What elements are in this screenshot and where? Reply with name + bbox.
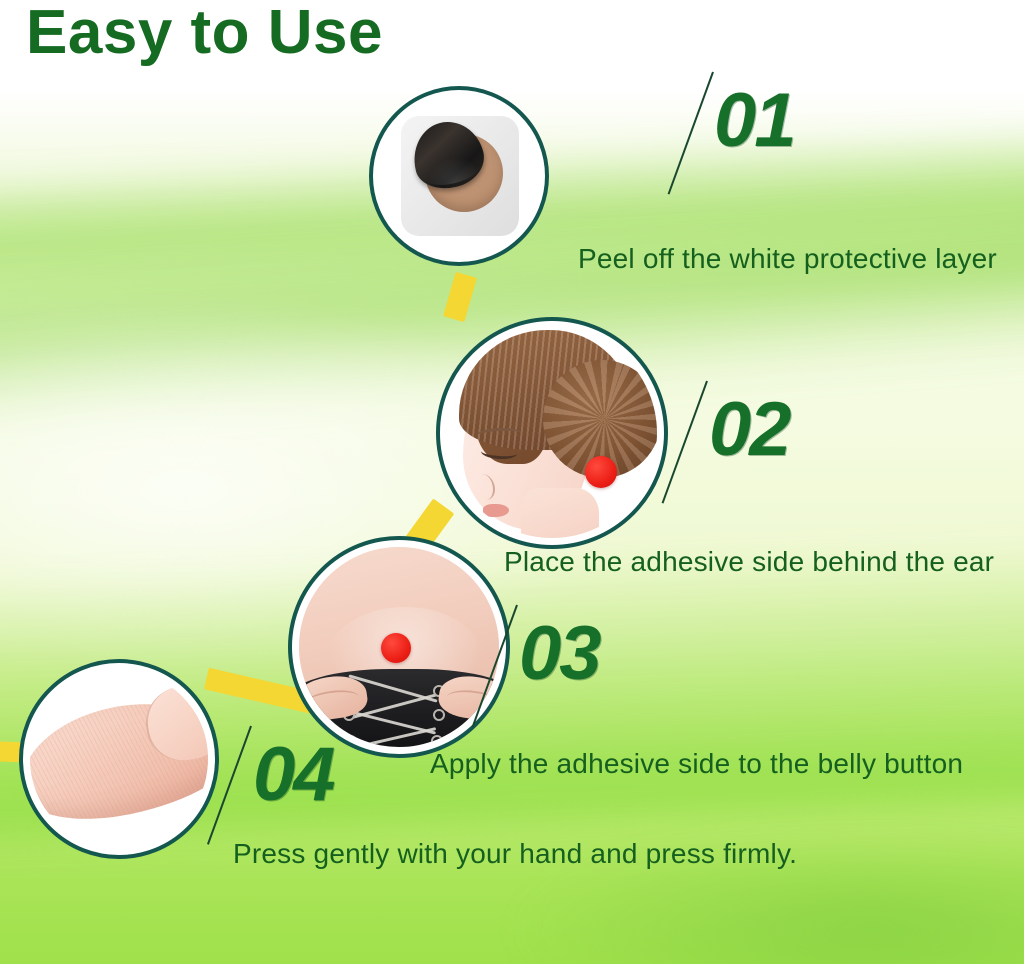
abdomen-photo [299,547,499,747]
woman-behind-ear-illustration [447,328,657,538]
step-4-number: 04 [253,737,334,813]
step-1-number: 01 [714,83,795,159]
patch-backing-card [401,116,519,236]
jaw-line [499,526,575,538]
step-2-caption: Place the adhesive side behind the ear [504,546,994,578]
patch-peel-film-photo [380,97,538,255]
application-spot-marker-navel [381,633,411,663]
step-2-number: 02 [709,392,790,468]
belly-button-photo [299,547,499,747]
step-1-image-circle [369,86,549,266]
step-3-image-circle [288,536,510,758]
easy-to-use-infographic: Easy to Use [0,0,1024,964]
finger-illustration [30,670,208,848]
application-spot-marker-ear [585,456,617,488]
step-4-caption: Press gently with your hand and press fi… [233,838,797,870]
fingertip-photo [30,670,208,848]
step-3-number: 03 [519,616,600,692]
face-illustration [447,328,657,538]
page-title: Easy to Use [26,2,383,64]
step-4-image-circle [19,659,219,859]
step-1-caption: Peel off the white protective layer [578,243,997,275]
step-2-image-circle [436,317,668,549]
step-3-caption: Apply the adhesive side to the belly but… [430,748,963,780]
